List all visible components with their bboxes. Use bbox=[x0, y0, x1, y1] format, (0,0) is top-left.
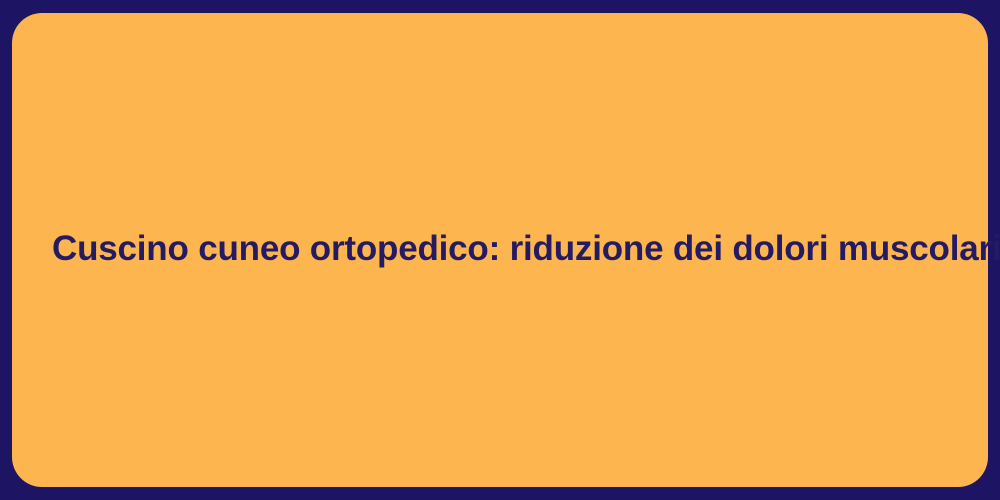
card-heading: Cuscino cuneo ortopedico: riduzione dei … bbox=[12, 228, 988, 270]
card-panel: Cuscino cuneo ortopedico: riduzione dei … bbox=[12, 13, 988, 487]
card-canvas: Cuscino cuneo ortopedico: riduzione dei … bbox=[0, 0, 1000, 500]
